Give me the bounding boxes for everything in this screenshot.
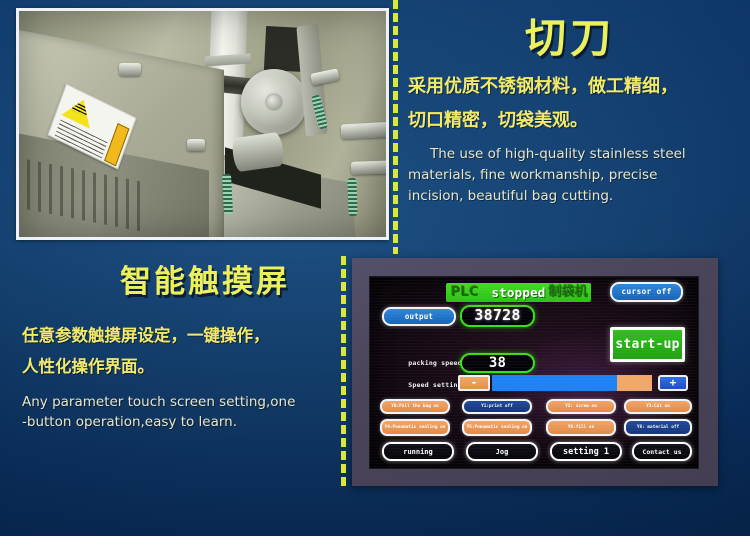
cursor-off-button[interactable]: cursor off	[610, 282, 683, 302]
touchscreen-title: 智能触摸屏	[60, 256, 350, 301]
output-label: output	[382, 307, 456, 326]
function-button-y5[interactable]: Y5:Pneumatic sealing on	[462, 419, 532, 436]
cutter-en-line-3: incision, beautiful bag cutting.	[408, 186, 740, 207]
ts-cn-line-1: 任意参数触摸屏设定，一键操作，	[22, 320, 340, 351]
status-bar: PLC stopped 制袋机	[446, 283, 591, 302]
speed-increase-button[interactable]: +	[658, 375, 688, 391]
ts-en-line-2: -button operation,easy to learn.	[22, 412, 342, 432]
function-button-y3[interactable]: Y3:Cut on	[624, 399, 692, 414]
page-root: 切刀 采用优质不锈钢材料，做工精细， 切口精密，切袋美观。 The use of…	[0, 0, 750, 558]
function-button-y2[interactable]: Y2: screw on	[546, 399, 616, 414]
cutter-mechanism-photo	[16, 8, 389, 240]
cutter-en-line-1: The use of high-quality stainless steel	[408, 144, 740, 165]
touchscreen-chinese-text: 任意参数触摸屏设定，一键操作， 人性化操作界面。	[22, 320, 340, 382]
cutter-english-text: The use of high-quality stainless steel …	[408, 144, 740, 207]
dashed-divider-top	[393, 0, 398, 254]
screen-scanlines	[370, 277, 698, 468]
ts-cn-line-2: 人性化操作界面。	[22, 351, 340, 382]
bottom-white-strip	[0, 536, 750, 558]
packing-speed-value[interactable]: 38	[460, 353, 535, 373]
function-button-y1[interactable]: Y1:print off	[462, 399, 532, 414]
status-cn-right: 制袋机	[548, 285, 587, 299]
setting-1-button[interactable]: setting 1	[550, 442, 622, 461]
speed-slider[interactable]	[492, 375, 652, 391]
ts-en-line-1: Any parameter touch screen setting,one	[22, 392, 342, 412]
function-button-y0[interactable]: Y0:Pull the bag on	[380, 399, 450, 414]
contact-us-button[interactable]: Contact us	[632, 442, 692, 461]
photo-canvas	[19, 11, 386, 237]
touchscreen-english-text: Any parameter touch screen setting,one -…	[22, 392, 342, 432]
speed-decrease-button[interactable]: -	[458, 375, 490, 391]
cutter-cn-line-1: 采用优质不锈钢材料，做工精细，	[408, 70, 744, 104]
cutter-cn-line-2: 切口精密，切袋美观。	[408, 104, 744, 138]
function-button-y8[interactable]: Y8: material off	[624, 419, 692, 436]
dashed-divider-bottom	[341, 256, 346, 488]
function-button-y4[interactable]: Y4:Pneumatic sealing on	[380, 419, 450, 436]
hmi-screen[interactable]: PLC stopped 制袋机 cursor off output 38728 …	[369, 276, 699, 469]
function-button-y6[interactable]: Y6:fill on	[546, 419, 616, 436]
jog-button[interactable]: Jog	[466, 442, 538, 461]
start-up-button[interactable]: start-up	[610, 327, 685, 362]
hmi-panel-bezel: PLC stopped 制袋机 cursor off output 38728 …	[352, 258, 718, 486]
running-button[interactable]: running	[382, 442, 454, 461]
output-value-display[interactable]: 38728	[460, 305, 535, 327]
cutter-en-line-2: materials, fine workmanship, precise	[408, 165, 740, 186]
photo-vignette	[19, 11, 386, 237]
cutter-title: 切刀	[400, 4, 740, 64]
cutter-chinese-text: 采用优质不锈钢材料，做工精细， 切口精密，切袋美观。	[408, 70, 744, 138]
status-text: stopped	[491, 286, 545, 299]
status-cn-left: PLC	[450, 285, 478, 299]
